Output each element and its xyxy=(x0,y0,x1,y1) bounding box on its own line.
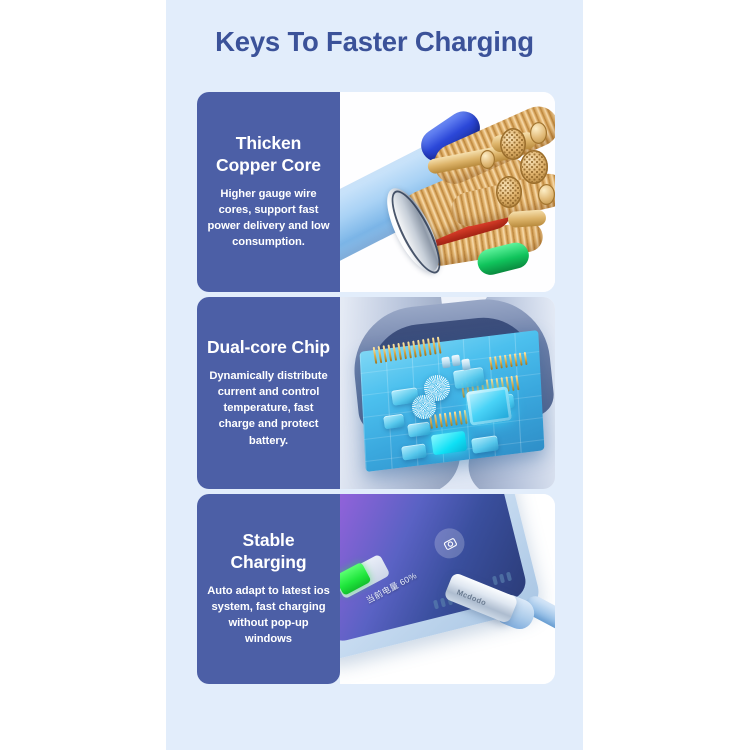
phone-charging-illustration: 当前电量 60% xyxy=(340,494,555,684)
feature-image-dual-core-chip xyxy=(340,297,555,489)
feature-title-line1: Thicken xyxy=(236,133,301,153)
main-chip-die xyxy=(466,386,512,426)
smd-component xyxy=(383,414,405,430)
page-title: Keys To Faster Charging xyxy=(166,25,583,58)
copper-rod xyxy=(507,209,546,228)
feature-text-pane: Thicken Copper Core Higher gauge wire co… xyxy=(197,92,340,292)
feature-card-dual-core-chip: Dual-core Chip Dynamically distribute cu… xyxy=(197,297,555,489)
camera-icon[interactable] xyxy=(429,523,470,564)
feature-text-pane: Dual-core Chip Dynamically distribute cu… xyxy=(197,297,340,489)
capacitor xyxy=(461,358,470,370)
product-feature-page: Keys To Faster Charging Thicken Copper C… xyxy=(0,0,750,750)
feature-image-copper-core xyxy=(340,92,555,292)
feature-title-line2: Charging xyxy=(230,552,306,572)
feature-title: Dual-core Chip xyxy=(207,337,330,359)
feature-body: Higher gauge wire cores, support fast po… xyxy=(204,186,333,251)
strand-cross-section xyxy=(496,176,522,208)
strand-cross-section xyxy=(500,128,526,160)
feature-card-thicken-copper-core: Thicken Copper Core Higher gauge wire co… xyxy=(197,92,555,292)
feature-body: Dynamically distribute current and contr… xyxy=(204,368,333,449)
connector-circuit-illustration xyxy=(340,297,555,489)
inductor-coil xyxy=(412,395,436,419)
feature-title: Stable Charging xyxy=(230,530,306,573)
feature-card-stable-charging: Stable Charging Auto adapt to latest ios… xyxy=(197,494,555,684)
feature-title: Thicken Copper Core xyxy=(216,133,321,176)
feature-title-line1: Stable xyxy=(243,530,295,550)
capacitor xyxy=(441,356,450,368)
feature-image-stable-charging: 当前电量 60% xyxy=(340,494,555,684)
feature-title-line2: Copper Core xyxy=(216,155,321,175)
rod-end-cap xyxy=(480,150,495,169)
feature-text-pane: Stable Charging Auto adapt to latest ios… xyxy=(197,494,340,684)
strand-cross-section xyxy=(520,150,548,184)
rod-end-cap xyxy=(530,122,547,144)
feature-body: Auto adapt to latest ios system, fast ch… xyxy=(204,583,333,648)
rod-end-cap xyxy=(538,184,555,205)
capacitor xyxy=(451,354,460,366)
copper-cable-illustration xyxy=(340,92,555,292)
